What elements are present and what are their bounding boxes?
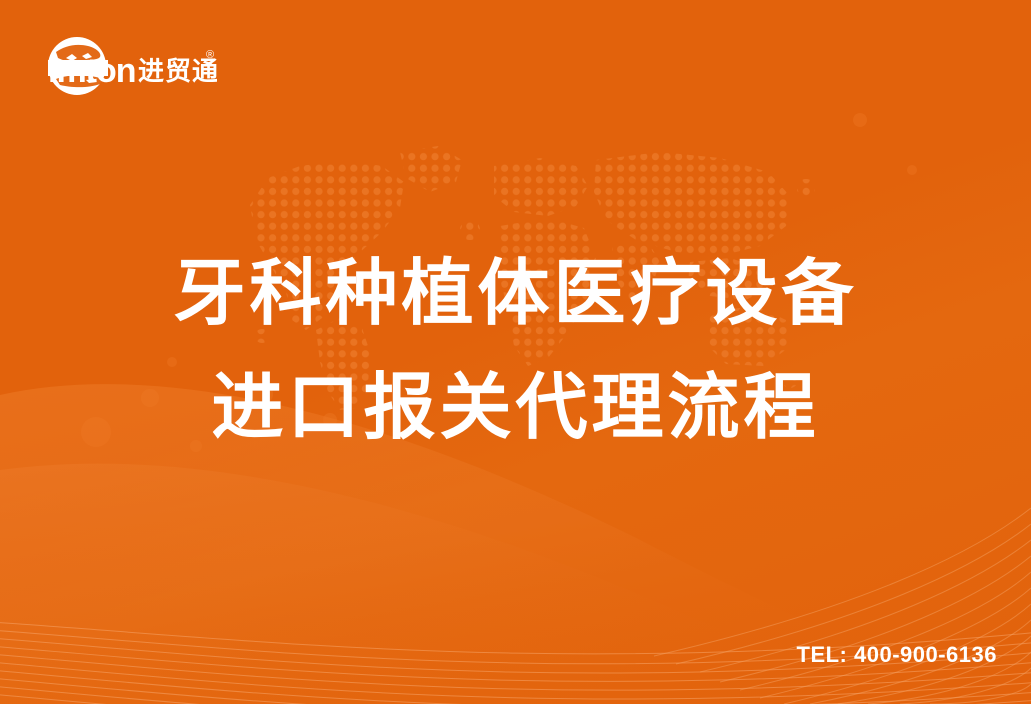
logo-svg: imton 进贸通 ®: [42, 30, 217, 104]
brand-logo[interactable]: imton 进贸通 ®: [42, 30, 217, 104]
background-decoration: [0, 0, 1031, 704]
registered-trademark-icon: ®: [206, 49, 214, 61]
contact-telephone[interactable]: TEL: 400-900-6136: [797, 642, 998, 668]
logo-latin-text: imton: [48, 52, 136, 90]
world-map-dots: [230, 140, 830, 425]
promo-banner: imton 进贸通 ® 牙科种植体医疗设备 进口报关代理流程 TEL: 400-…: [0, 0, 1031, 704]
